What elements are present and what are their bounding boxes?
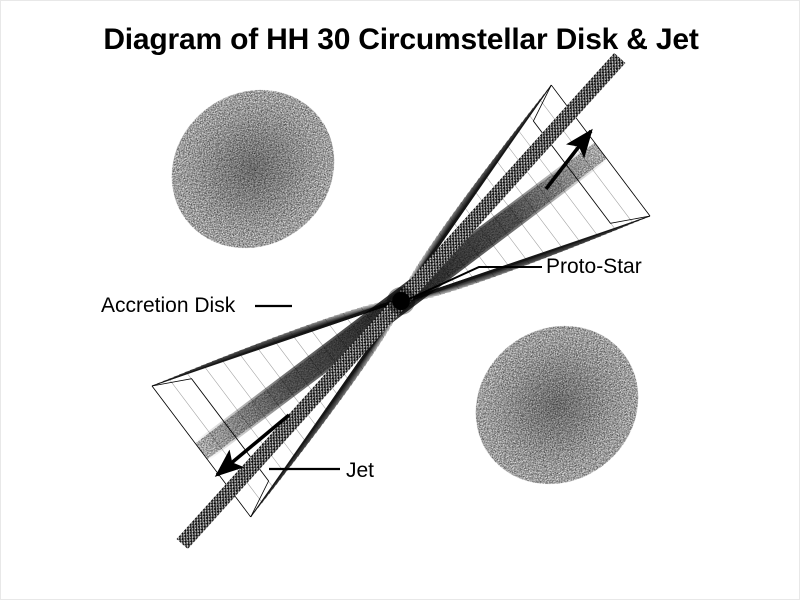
jet-label: Jet bbox=[346, 459, 374, 483]
accretion-disk-label: Accretion Disk bbox=[101, 294, 235, 318]
proto-star-core bbox=[387, 287, 415, 315]
rim-lower-right-outer bbox=[551, 85, 650, 216]
dust-cloud-lower-right-grain bbox=[444, 294, 670, 516]
rim-upper-left-outer bbox=[152, 386, 251, 517]
dust-cloud-upper-left-grain bbox=[140, 58, 366, 280]
figure-canvas: Diagram of HH 30 Circumstellar Disk & Je… bbox=[0, 0, 800, 600]
proto-star-label: Proto-Star bbox=[546, 255, 642, 279]
